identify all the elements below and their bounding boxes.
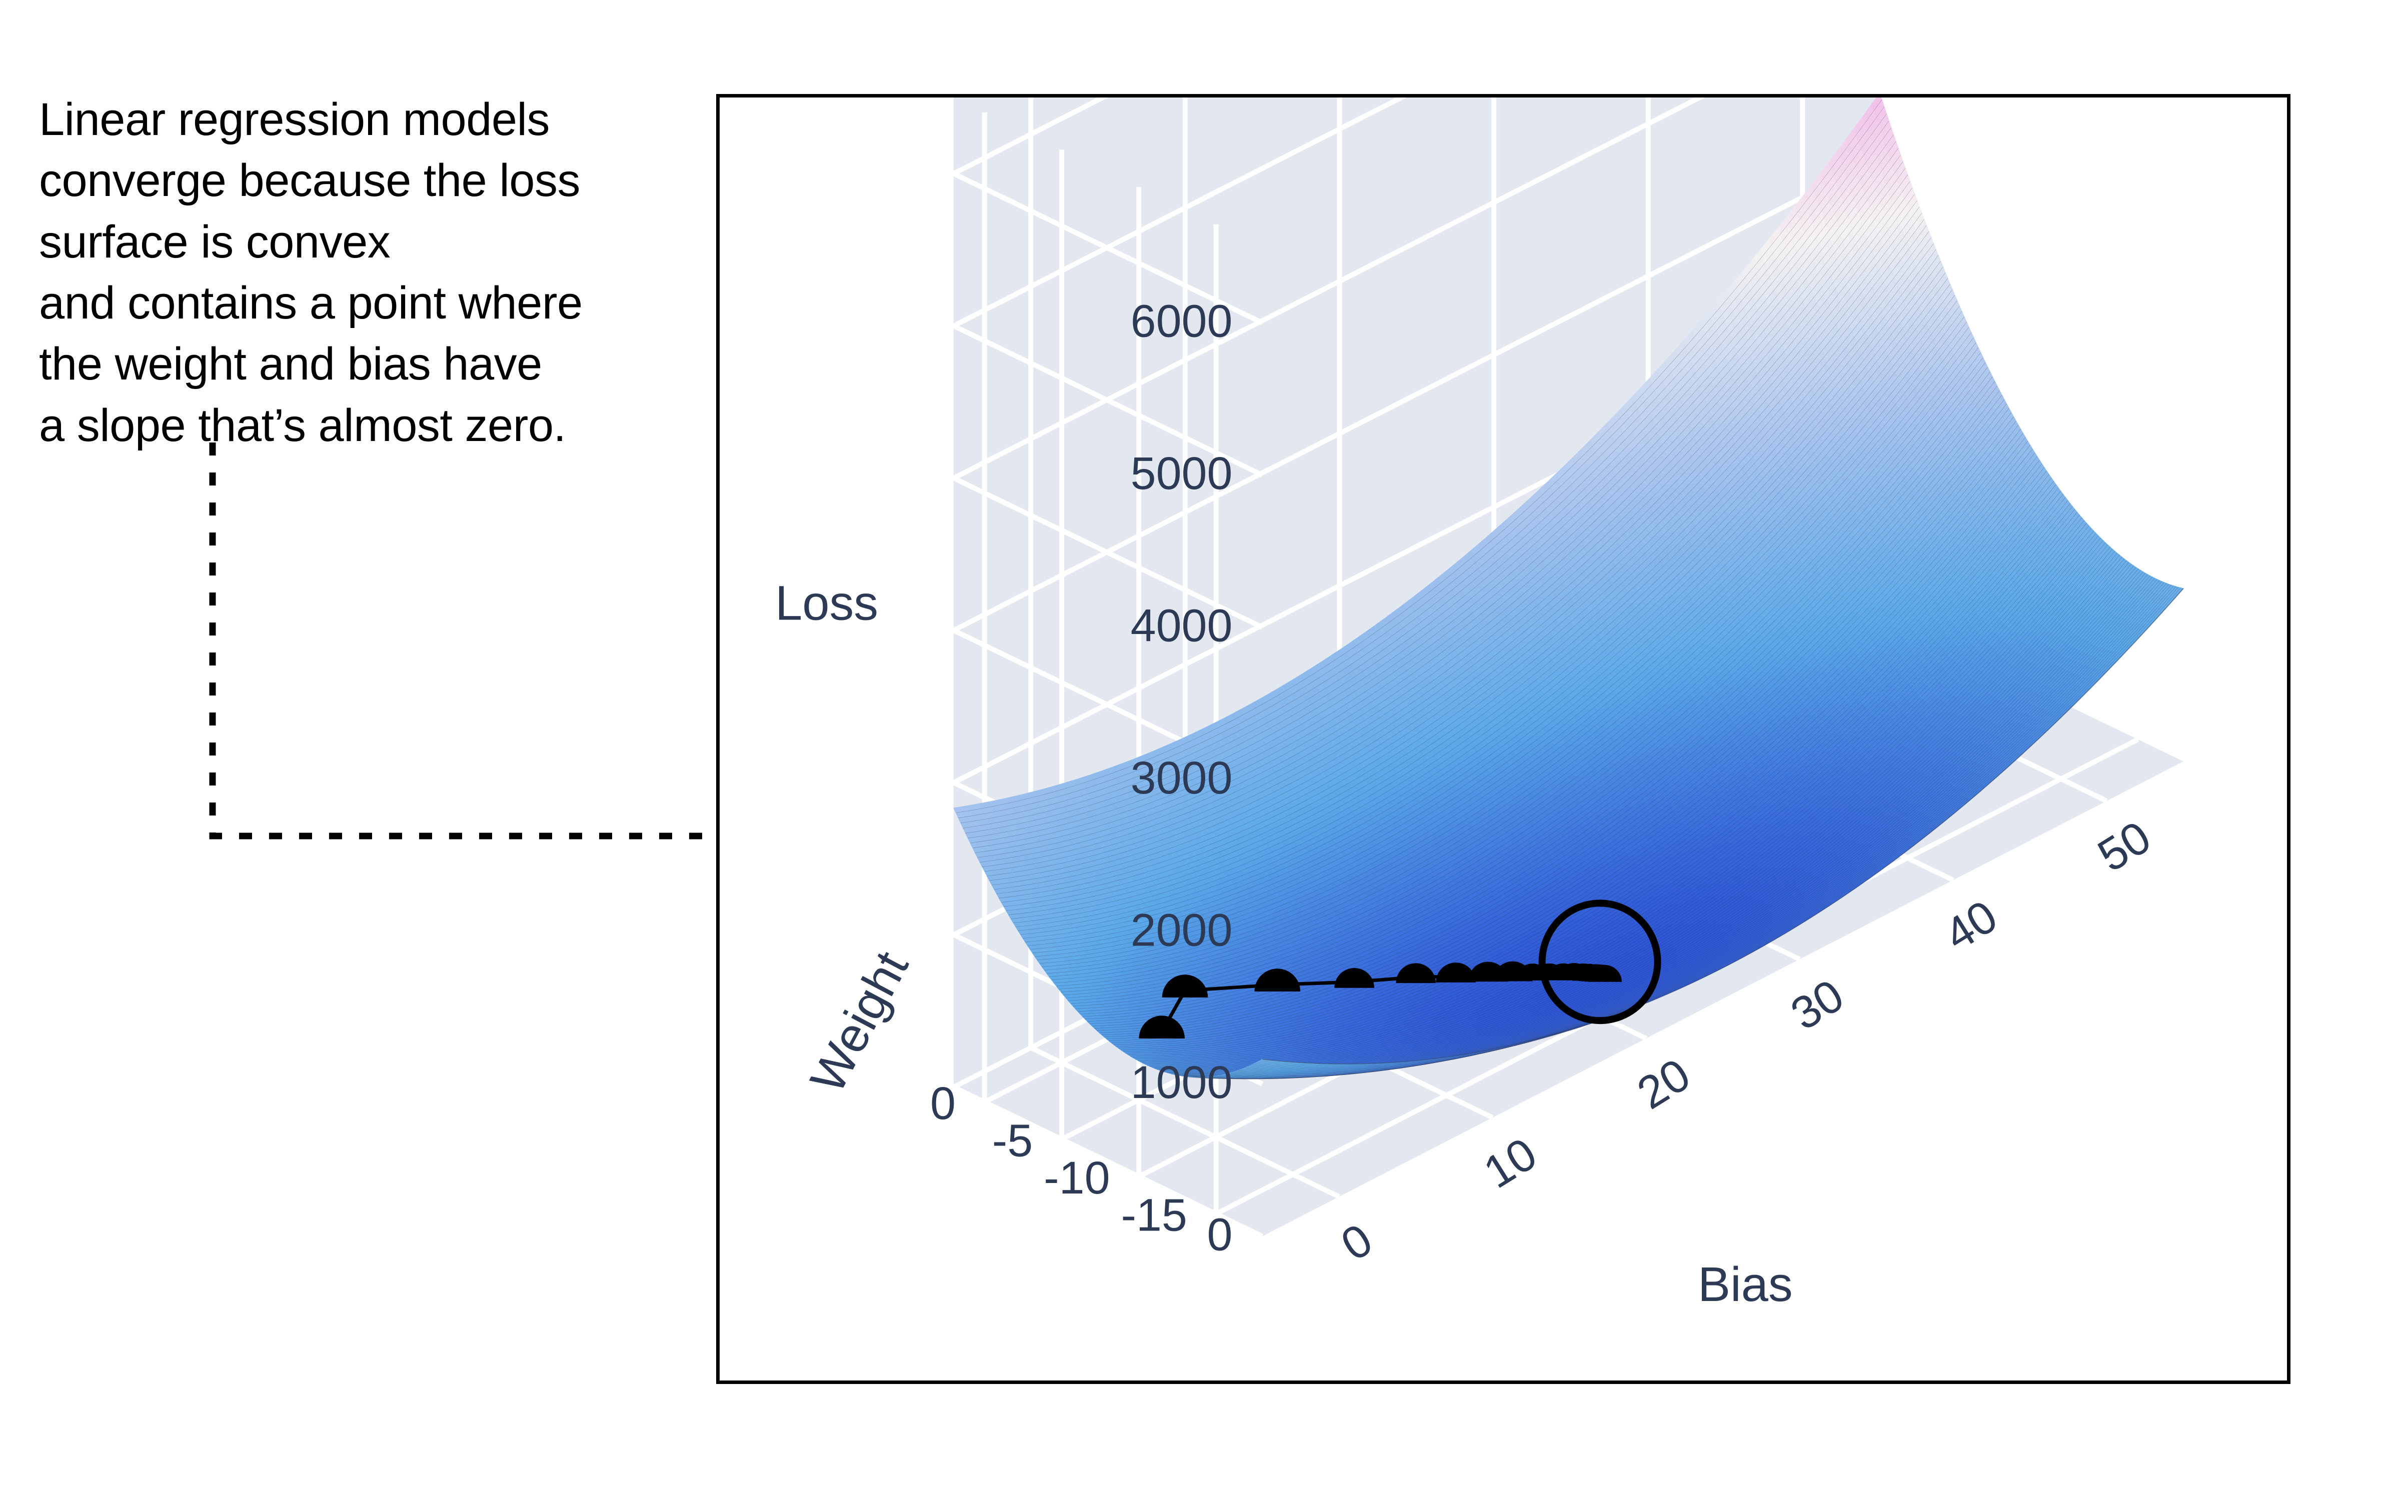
loss-surface-plot-frame: 0100020003000400050006000-15-10-50010203… bbox=[716, 94, 2290, 1384]
annotation-text: Linear regression models converge becaus… bbox=[39, 89, 689, 456]
loss-surface-plot: 0100020003000400050006000-15-10-50010203… bbox=[720, 97, 2287, 1380]
